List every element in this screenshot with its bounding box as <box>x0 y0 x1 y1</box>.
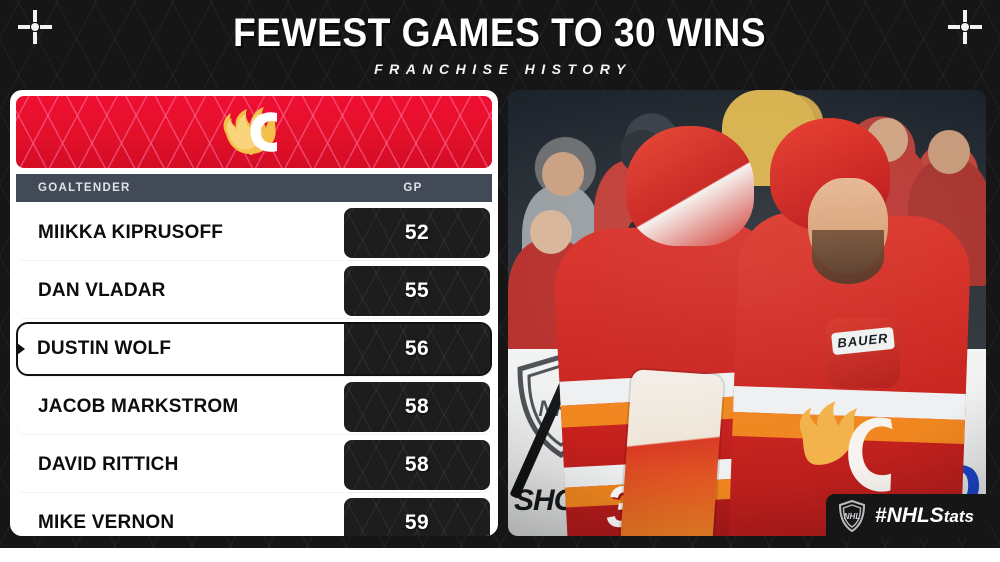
gp-value: 58 <box>405 395 429 419</box>
feature-photo: NHL SHOP.CA Mo 32 <box>508 90 986 536</box>
gp-value-box: 59 <box>344 498 490 536</box>
gp-value-box: 58 <box>344 382 490 432</box>
table-row-highlighted[interactable]: DUSTIN WOLF 56 <box>16 322 492 376</box>
team-banner <box>16 96 492 168</box>
goalie-mask <box>626 126 754 246</box>
header: FEWEST GAMES TO 30 WINS FRANCHISE HISTOR… <box>0 0 1000 88</box>
column-header-goaltender: GOALTENDER <box>16 182 340 194</box>
page-subtitle: FRANCHISE HISTORY <box>368 62 632 76</box>
graphic-card: FEWEST GAMES TO 30 WINS FRANCHISE HISTOR… <box>0 0 1000 548</box>
player-name: DUSTIN WOLF <box>18 338 344 360</box>
player-name: JACOB MARKSTROM <box>16 396 344 418</box>
badge-hash-text: #NHL <box>875 504 930 527</box>
goalie-pad <box>620 369 724 536</box>
gp-value: 56 <box>405 337 429 361</box>
gp-value: 58 <box>405 453 429 477</box>
table-rows: MIIKKA KIPRUSOFF 52 DAN VLADAR 55 <box>10 202 498 536</box>
flames-logo-icon <box>215 104 293 160</box>
player-name: DAN VLADAR <box>16 280 344 302</box>
gp-value: 55 <box>405 279 429 303</box>
nhl-stats-label: #NHLStats <box>875 504 974 528</box>
gp-value-box: 52 <box>344 208 490 258</box>
badge-stats-s: S <box>930 504 944 527</box>
gp-value: 59 <box>405 511 429 535</box>
column-header-gp: GP <box>340 182 492 194</box>
player-name: MIKE VERNON <box>16 512 344 534</box>
player-beard <box>812 230 884 284</box>
gp-value-box: 55 <box>344 266 490 316</box>
player-name: MIIKKA KIPRUSOFF <box>16 222 344 244</box>
badge-stats-rest: tats <box>944 507 974 526</box>
table-row[interactable]: JACOB MARKSTROM 58 <box>16 380 492 434</box>
table-row[interactable]: MIIKKA KIPRUSOFF 52 <box>16 206 492 260</box>
glove-brand-label: BAUER <box>831 327 895 355</box>
table-row[interactable]: DAVID RITTICH 58 <box>16 438 492 492</box>
gp-value-box: 58 <box>344 440 490 490</box>
table-row[interactable]: DAN VLADAR 55 <box>16 264 492 318</box>
graphic-root: FEWEST GAMES TO 30 WINS FRANCHISE HISTOR… <box>0 0 1000 562</box>
nhl-stats-badge[interactable]: NHL #NHLStats <box>826 494 990 538</box>
gp-value: 52 <box>405 221 429 245</box>
stats-panel: GOALTENDER GP MIIKKA KIPRUSOFF 52 DAN VL… <box>10 90 498 536</box>
gp-value-box: 56 <box>344 324 490 374</box>
nhl-shield-icon: NHL <box>838 500 866 532</box>
page-title: FEWEST GAMES TO 30 WINS <box>234 13 767 53</box>
row-marker-icon <box>17 343 25 355</box>
table-row[interactable]: MIKE VERNON 59 <box>16 496 492 536</box>
photo-scene: NHL SHOP.CA Mo 32 <box>508 90 986 536</box>
player-name: DAVID RITTICH <box>16 454 344 476</box>
svg-text:NHL: NHL <box>844 512 861 521</box>
table-column-header: GOALTENDER GP <box>16 174 492 202</box>
player-glove: BAUER <box>826 318 900 388</box>
